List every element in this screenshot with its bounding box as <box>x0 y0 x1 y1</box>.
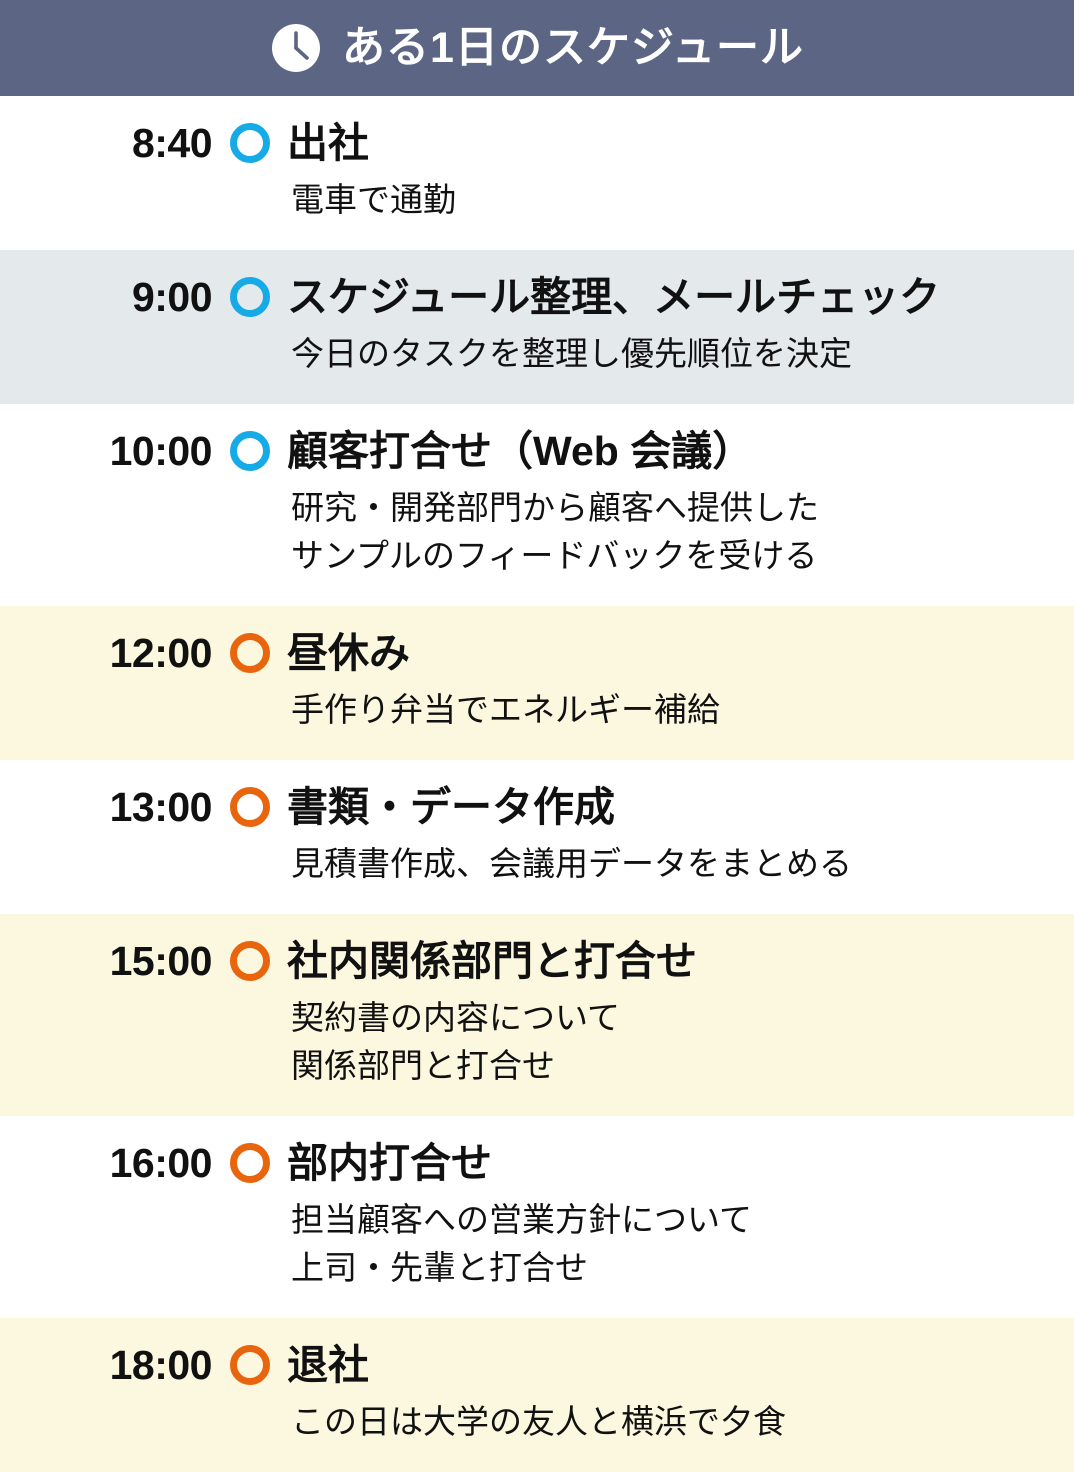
entry-description: 研究・開発部門から顧客へ提供した サンプルのフィードバックを受ける <box>287 478 1050 580</box>
entry-spacer <box>287 378 1050 404</box>
entry-time: 18:00 <box>0 1338 215 1392</box>
entry-description-line: 担当顧客への営業方針について <box>291 1196 1050 1244</box>
entry-spacer <box>287 1292 1050 1318</box>
timeline-dot-icon <box>230 277 270 317</box>
entry-description-line: 上司・先輩と打合せ <box>291 1244 1050 1292</box>
timeline-dot-icon <box>230 431 270 471</box>
schedule-infographic: ある1日のスケジュール 8:40 出社 電車で通勤 9:00 <box>0 0 1074 1444</box>
entry-marker <box>215 424 285 478</box>
entry-time: 10:00 <box>0 424 215 478</box>
entry-description: 契約書の内容について 関係部門と打合せ <box>287 988 1050 1090</box>
entry-description: 手作り弁当でエネルギー補給 <box>287 680 1050 734</box>
entry-time: 13:00 <box>0 780 215 834</box>
entry-title: スケジュール整理、メールチェック <box>287 270 1050 324</box>
timeline-dot-icon <box>230 1143 270 1183</box>
entry-description-line: 関係部門と打合せ <box>291 1042 1050 1090</box>
entry-title: 顧客打合せ（Web 会議） <box>287 424 1050 478</box>
entry-spacer <box>287 224 1050 250</box>
entry-description: 見積書作成、会議用データをまとめる <box>287 834 1050 888</box>
entry-description: 電車で通勤 <box>287 170 1050 224</box>
entry-spacer <box>287 888 1050 914</box>
header-banner: ある1日のスケジュール <box>0 0 1074 96</box>
entry-content: 出社 電車で通勤 <box>285 116 1074 250</box>
clock-icon <box>270 22 322 74</box>
timeline-entry[interactable]: 10:00 顧客打合せ（Web 会議） 研究・開発部門から顧客へ提供した サンプ… <box>0 404 1074 606</box>
entry-spacer <box>287 1446 1050 1472</box>
entry-spacer <box>287 1090 1050 1116</box>
entry-description-line: 電車で通勤 <box>291 176 1050 224</box>
entry-content: 退社 この日は大学の友人と横浜で夕食 <box>285 1338 1074 1472</box>
entry-time: 12:00 <box>0 626 215 680</box>
timeline-entry[interactable]: 12:00 昼休み 手作り弁当でエネルギー補給 <box>0 606 1074 760</box>
entry-marker <box>215 626 285 680</box>
entry-content: 顧客打合せ（Web 会議） 研究・開発部門から顧客へ提供した サンプルのフィード… <box>285 424 1074 606</box>
entry-time: 9:00 <box>0 270 215 324</box>
entry-description-line: 研究・開発部門から顧客へ提供した <box>291 484 1050 532</box>
entry-marker <box>215 1338 285 1392</box>
entry-content: 書類・データ作成 見積書作成、会議用データをまとめる <box>285 780 1074 914</box>
entry-title: 出社 <box>287 116 1050 170</box>
timeline-dot-icon <box>230 633 270 673</box>
entry-description-line: 今日のタスクを整理し優先順位を決定 <box>291 330 1050 378</box>
entry-description-line: この日は大学の友人と横浜で夕食 <box>291 1398 1050 1446</box>
entry-content: 部内打合せ 担当顧客への営業方針について 上司・先輩と打合せ <box>285 1136 1074 1318</box>
entry-description: この日は大学の友人と横浜で夕食 <box>287 1392 1050 1446</box>
entry-description: 今日のタスクを整理し優先順位を決定 <box>287 324 1050 378</box>
entry-title: 社内関係部門と打合せ <box>287 934 1050 988</box>
entry-marker <box>215 270 285 324</box>
entry-title: 昼休み <box>287 626 1050 680</box>
entry-title: 退社 <box>287 1338 1050 1392</box>
timeline: 8:40 出社 電車で通勤 9:00 スケジュール整理、メールチェック 今日の <box>0 96 1074 1444</box>
entry-description-line: サンプルのフィードバックを受ける <box>291 532 1050 580</box>
entry-description-line: 契約書の内容について <box>291 994 1050 1042</box>
entry-marker <box>215 1136 285 1190</box>
timeline-dot-icon <box>230 787 270 827</box>
entry-content: 社内関係部門と打合せ 契約書の内容について 関係部門と打合せ <box>285 934 1074 1116</box>
entry-marker <box>215 116 285 170</box>
entry-title: 書類・データ作成 <box>287 780 1050 834</box>
entry-description-line: 手作り弁当でエネルギー補給 <box>291 686 1050 734</box>
page-title: ある1日のスケジュール <box>342 27 804 70</box>
timeline-dot-icon <box>230 1345 270 1385</box>
entry-spacer <box>287 734 1050 760</box>
entry-title: 部内打合せ <box>287 1136 1050 1190</box>
timeline-entry[interactable]: 13:00 書類・データ作成 見積書作成、会議用データをまとめる <box>0 760 1074 914</box>
entry-description-line: 見積書作成、会議用データをまとめる <box>291 840 1050 888</box>
timeline-dot-icon <box>230 941 270 981</box>
entry-time: 16:00 <box>0 1136 215 1190</box>
entry-marker <box>215 780 285 834</box>
timeline-entry[interactable]: 8:40 出社 電車で通勤 <box>0 96 1074 250</box>
timeline-entry[interactable]: 15:00 社内関係部門と打合せ 契約書の内容について 関係部門と打合せ <box>0 914 1074 1116</box>
entry-description: 担当顧客への営業方針について 上司・先輩と打合せ <box>287 1190 1050 1292</box>
timeline-entry[interactable]: 16:00 部内打合せ 担当顧客への営業方針について 上司・先輩と打合せ <box>0 1116 1074 1318</box>
entry-time: 8:40 <box>0 116 215 170</box>
timeline-entry[interactable]: 18:00 退社 この日は大学の友人と横浜で夕食 <box>0 1318 1074 1472</box>
entry-content: 昼休み 手作り弁当でエネルギー補給 <box>285 626 1074 760</box>
entry-time: 15:00 <box>0 934 215 988</box>
timeline-entry[interactable]: 9:00 スケジュール整理、メールチェック 今日のタスクを整理し優先順位を決定 <box>0 250 1074 404</box>
entry-marker <box>215 934 285 988</box>
timeline-dot-icon <box>230 123 270 163</box>
entry-spacer <box>287 580 1050 606</box>
entry-content: スケジュール整理、メールチェック 今日のタスクを整理し優先順位を決定 <box>285 270 1074 404</box>
